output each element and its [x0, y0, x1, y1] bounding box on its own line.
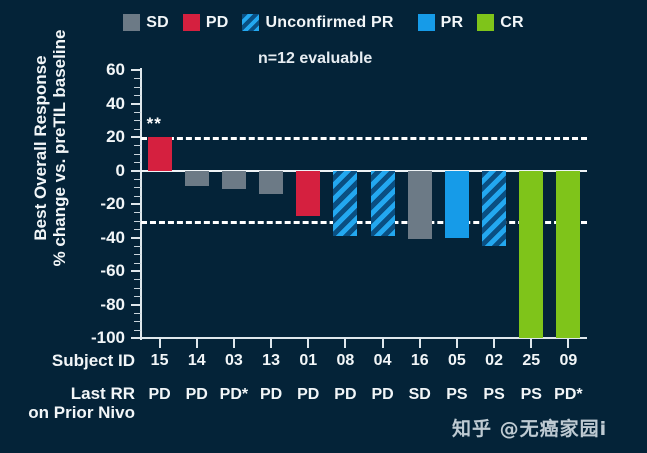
y-axis-minor-tick	[134, 78, 141, 79]
y-axis-tick	[131, 203, 141, 205]
y-axis-tick-label: -40	[81, 229, 125, 246]
bar-subject-15	[148, 137, 172, 171]
y-axis-minor-tick	[134, 87, 141, 88]
square-swatch-icon	[183, 14, 200, 31]
x-axis-tick	[530, 339, 532, 348]
y-axis-minor-tick	[134, 162, 141, 163]
evaluable-count-note: n=12 evaluable	[258, 50, 372, 68]
y-axis-minor-tick	[134, 187, 141, 188]
last-rr-cell: SD	[399, 387, 441, 403]
y-axis-tick-label: -20	[81, 195, 125, 212]
legend-label: PR	[441, 15, 464, 31]
subject-id-cell: 13	[252, 353, 290, 369]
legend-label: SD	[146, 15, 169, 31]
x-axis-tick	[456, 339, 458, 348]
watermark: 知乎 @无癌家园i	[452, 414, 607, 441]
y-axis-tick	[131, 136, 141, 138]
last-rr-row-header: Last RR on Prior Nivo	[10, 385, 135, 422]
y-axis-tick	[131, 270, 141, 272]
y-axis-tick-label: 60	[81, 61, 125, 78]
last-rr-cell: PS	[436, 387, 478, 403]
legend-item-sd: SD	[123, 14, 169, 31]
subject-id-cell: 14	[178, 353, 216, 369]
subject-id-cell: 09	[549, 353, 587, 369]
bar-subject-14	[185, 171, 209, 186]
legend-item-pd: PD	[183, 14, 229, 31]
last-rr-cell: PS	[510, 387, 552, 403]
square-swatch-icon	[477, 14, 494, 31]
y-axis-minor-tick	[134, 212, 141, 213]
waterfall-chart-figure: SDPDUnconfirmed PRPRCR Best Overall Resp…	[0, 0, 647, 453]
y-axis-minor-tick	[134, 330, 141, 331]
subject-id-cell: 02	[475, 353, 513, 369]
square-swatch-icon	[123, 14, 140, 31]
last-rr-cell: PD	[176, 387, 218, 403]
bar-subject-05	[445, 171, 469, 238]
y-axis-tick	[131, 69, 141, 71]
last-rr-cell: PD*	[547, 387, 589, 403]
bar-subject-02	[482, 171, 506, 246]
y-axis-tick-label: -60	[81, 262, 125, 279]
y-axis-tick	[131, 337, 141, 339]
y-axis-tick-label: -100	[81, 329, 125, 346]
x-axis-tick	[196, 339, 198, 348]
legend-item-cr: CR	[477, 14, 524, 31]
hatched-square-swatch-icon	[242, 14, 259, 31]
x-axis-tick	[159, 339, 161, 348]
last-rr-row-header-line2: on Prior Nivo	[10, 404, 135, 423]
y-axis-tick	[131, 170, 141, 172]
x-axis-tick	[493, 339, 495, 348]
x-axis-tick	[567, 339, 569, 348]
x-axis-tick	[419, 339, 421, 348]
y-axis-tick	[131, 304, 141, 306]
y-axis-tick	[131, 103, 141, 105]
bar-subject-25	[519, 171, 543, 339]
y-axis-minor-tick	[134, 129, 141, 130]
bar-subject-13	[259, 171, 283, 194]
y-axis-minor-tick	[134, 179, 141, 180]
last-rr-cell: PD	[324, 387, 366, 403]
y-axis-minor-tick	[134, 296, 141, 297]
significance-annotation: **	[147, 115, 162, 132]
x-axis-tick	[344, 339, 346, 348]
legend-item-pr: PR	[418, 14, 464, 31]
bar-subject-08	[333, 171, 357, 236]
legend-item-unconfirmed-pr: Unconfirmed PR	[242, 14, 393, 31]
last-rr-cell: PD	[250, 387, 292, 403]
y-axis-minor-tick	[134, 95, 141, 96]
subject-id-cell: 25	[512, 353, 550, 369]
y-axis-minor-tick	[134, 145, 141, 146]
y-axis-minor-tick	[134, 263, 141, 264]
last-rr-cell: PD*	[213, 387, 255, 403]
subject-id-cell: 08	[326, 353, 364, 369]
y-axis-tick-label: 40	[81, 95, 125, 112]
y-axis-minor-tick	[134, 229, 141, 230]
last-rr-row-header-line1: Last RR	[10, 385, 135, 404]
bar-subject-04	[371, 171, 395, 236]
y-axis-minor-tick	[134, 112, 141, 113]
y-axis-tick-label: 0	[81, 162, 125, 179]
subject-id-cell: 15	[141, 353, 179, 369]
y-axis-minor-tick	[134, 279, 141, 280]
y-axis-minor-tick	[134, 321, 141, 322]
bar-subject-16	[408, 171, 432, 240]
y-axis-minor-tick	[134, 154, 141, 155]
x-axis-tick	[382, 339, 384, 348]
x-axis-tick	[307, 339, 309, 348]
subject-id-row-header: Subject ID	[25, 352, 135, 371]
square-swatch-icon	[418, 14, 435, 31]
bar-subject-01	[296, 171, 320, 216]
y-axis-minor-tick	[134, 120, 141, 121]
plot-area	[141, 70, 587, 338]
x-axis-tick	[233, 339, 235, 348]
subject-id-cell: 16	[401, 353, 439, 369]
y-axis-minor-tick	[134, 246, 141, 247]
y-axis-minor-tick	[134, 221, 141, 222]
y-axis-minor-tick	[134, 313, 141, 314]
last-rr-cell: PD	[362, 387, 404, 403]
y-axis-tick-label: -80	[81, 296, 125, 313]
last-rr-cell: PD	[287, 387, 329, 403]
subject-id-cell: 01	[289, 353, 327, 369]
last-rr-cell: PD	[139, 387, 181, 403]
legend-label: Unconfirmed PR	[265, 15, 393, 31]
subject-id-cell: 03	[215, 353, 253, 369]
subject-id-cell: 04	[364, 353, 402, 369]
legend-label: PD	[206, 15, 229, 31]
y-axis-minor-tick	[134, 288, 141, 289]
legend-label: CR	[500, 15, 524, 31]
bar-subject-03	[222, 171, 246, 189]
y-axis-tick-label: 20	[81, 128, 125, 145]
last-rr-cell: PS	[473, 387, 515, 403]
subject-id-cell: 05	[438, 353, 476, 369]
reference-line-20	[141, 137, 587, 140]
y-axis-minor-tick	[134, 196, 141, 197]
y-axis-tick	[131, 237, 141, 239]
x-axis-tick	[270, 339, 272, 348]
y-axis-minor-tick	[134, 254, 141, 255]
bar-subject-09	[556, 171, 580, 339]
